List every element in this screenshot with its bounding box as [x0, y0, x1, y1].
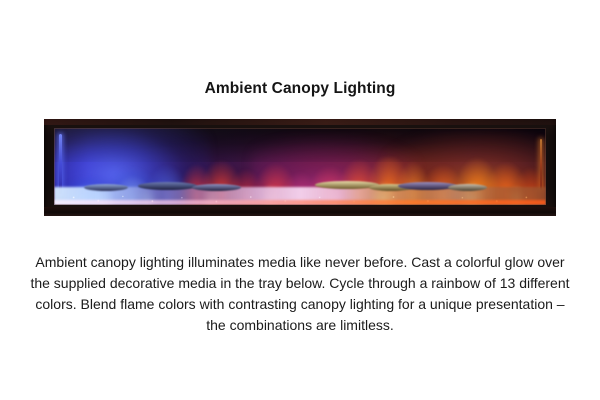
ember-glow-line [54, 200, 546, 205]
fireplace-figure [44, 119, 556, 216]
page-title: Ambient Canopy Lighting [0, 80, 600, 98]
body-paragraph: Ambient canopy lighting illuminates medi… [30, 252, 570, 336]
fireplace-frame [44, 119, 556, 216]
fireplace-glass-opening [54, 128, 546, 205]
page-root: Ambient Canopy Lighting [0, 0, 600, 400]
